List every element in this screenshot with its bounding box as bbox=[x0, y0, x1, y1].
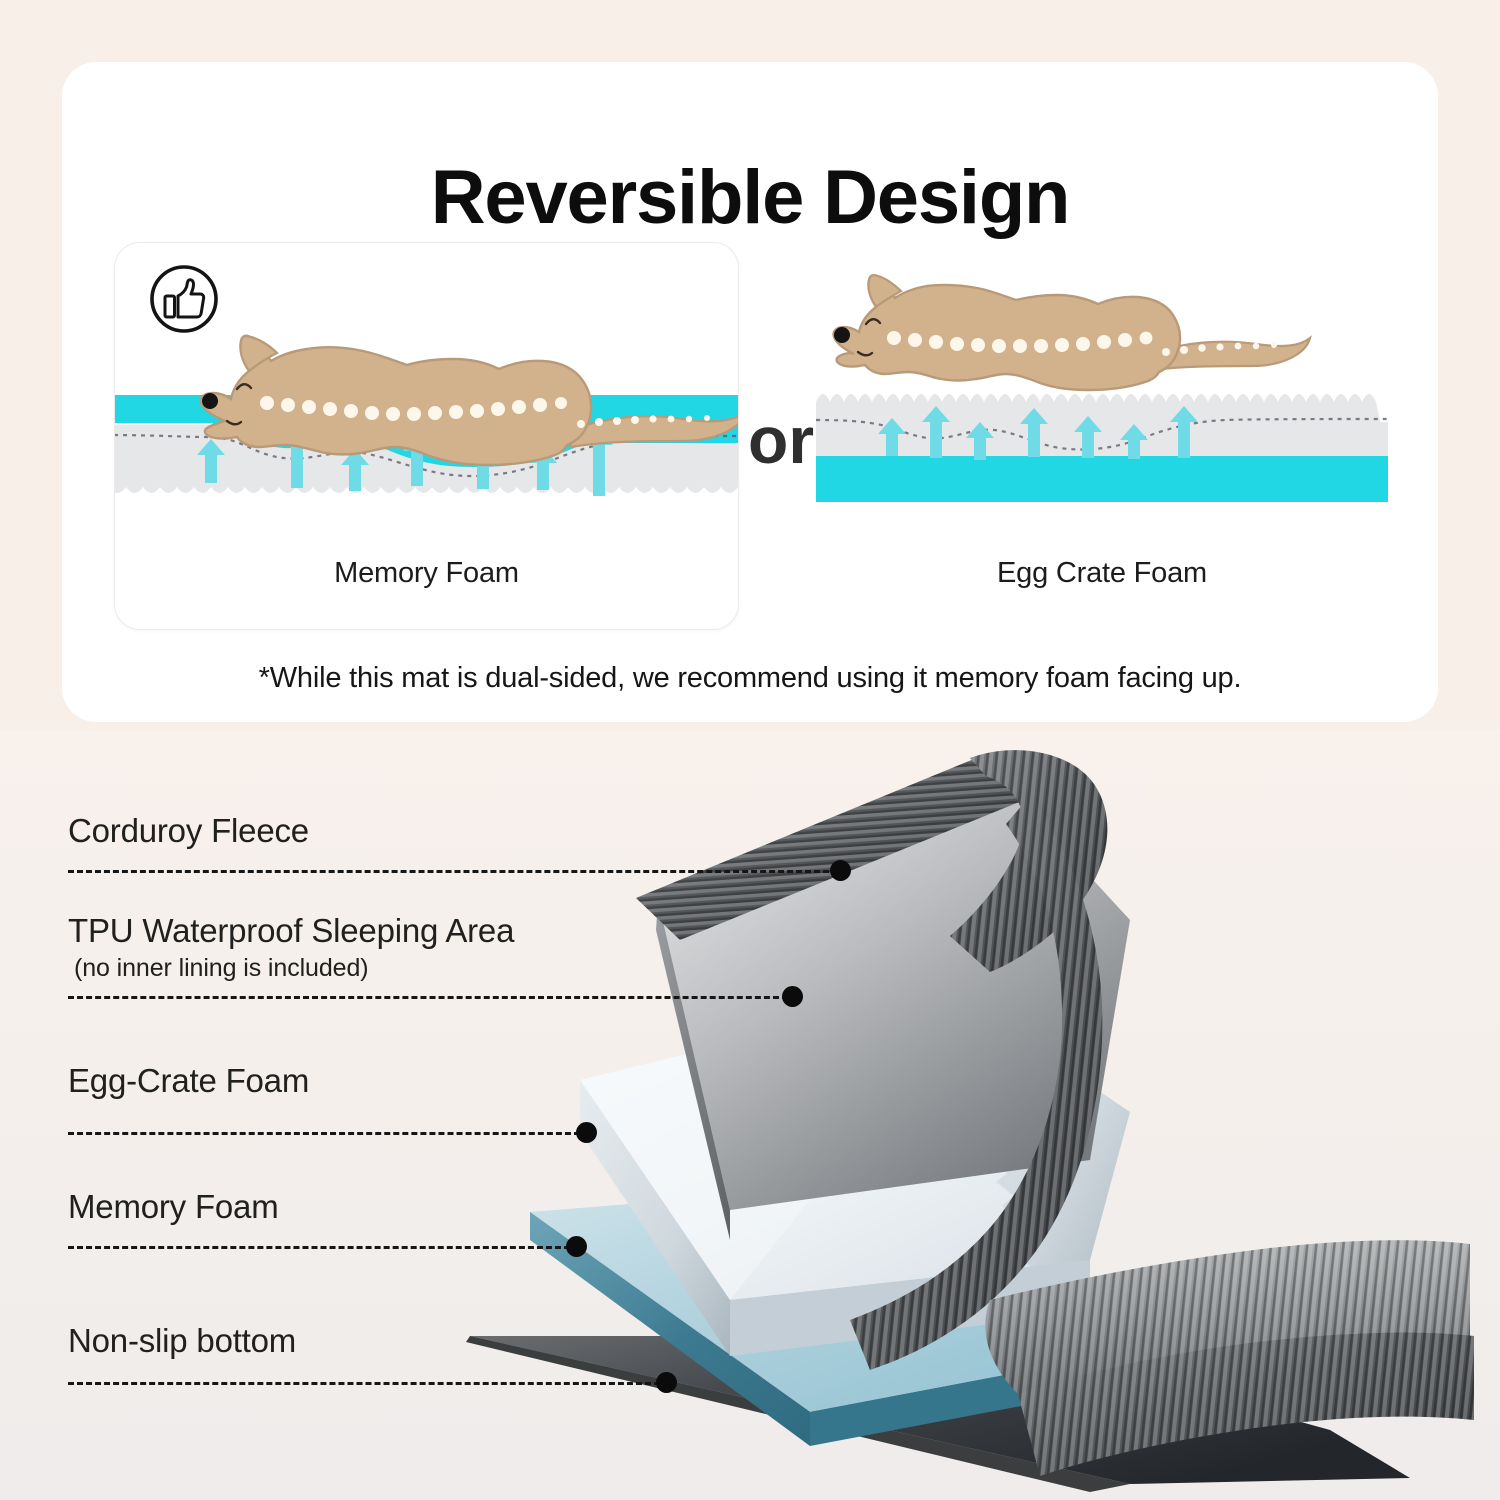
footnote-text: *While this mat is dual-sided, we recomm… bbox=[62, 662, 1438, 695]
tpu-cyan-layer bbox=[816, 456, 1388, 502]
label-memory-foam: Memory Foam bbox=[68, 1188, 279, 1226]
leader-dot-tpu-waterproof bbox=[782, 986, 803, 1007]
label-corduroy-fleece: Corduroy Fleece bbox=[68, 812, 309, 850]
thumbs-up-icon bbox=[148, 263, 220, 335]
page-title: Reversible Design bbox=[62, 154, 1438, 241]
leader-line-tpu-waterproof bbox=[68, 996, 788, 999]
label-egg-crate-foam: Egg-Crate Foam bbox=[68, 1062, 309, 1100]
leader-line-corduroy-fleece bbox=[68, 870, 838, 873]
leader-dot-non-slip-bottom bbox=[656, 1372, 677, 1393]
leader-line-egg-crate-foam bbox=[68, 1132, 580, 1135]
leader-line-non-slip-bottom bbox=[68, 1382, 660, 1385]
label-non-slip-bottom: Non-slip bottom bbox=[68, 1322, 296, 1360]
infographic-page: Reversible Design bbox=[0, 0, 1500, 1500]
leader-line-memory-foam bbox=[68, 1246, 570, 1249]
caption-egg-crate-foam: Egg Crate Foam bbox=[762, 557, 1442, 590]
label-tpu-waterproof: TPU Waterproof Sleeping Area (no inner l… bbox=[68, 912, 514, 983]
reversible-design-card: Reversible Design bbox=[62, 62, 1438, 722]
leader-dot-memory-foam bbox=[566, 1236, 587, 1257]
caption-memory-foam: Memory Foam bbox=[114, 557, 739, 590]
leader-dot-corduroy-fleece bbox=[830, 860, 851, 881]
layer-label-group: Corduroy Fleece TPU Waterproof Sleeping … bbox=[0, 730, 1500, 1500]
leader-dot-egg-crate-foam bbox=[576, 1122, 597, 1143]
sleeping-dog bbox=[834, 275, 1310, 390]
